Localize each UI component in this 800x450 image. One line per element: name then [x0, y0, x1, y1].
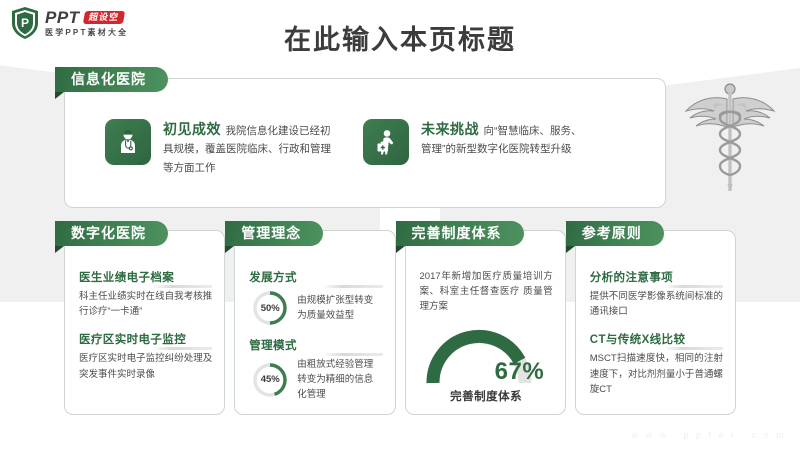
card-4-section-2-heading: CT与传统X线比较 — [590, 331, 723, 347]
card-4-section-2-body: MSCT扫描速度快，相同的注射速度下，对比剂剂量小于普通螺旋CT — [590, 351, 723, 397]
card-2-section-2-body: 由粗放式经验管理转变为精细的信息化管理 — [297, 357, 382, 403]
cards-row: 数字化医院 医生业绩电子档案 科主任业绩实时在线自我考核推行诊疗“一卡通” 医疗… — [64, 230, 736, 415]
card-1-section-1-heading: 医生业绩电子档案 — [79, 269, 212, 285]
card-1-section-2-body: 医疗区实时电子监控纠纷处理及突发事件实时录像 — [79, 351, 212, 381]
card-1-section-2-heading: 医疗区实时电子监控 — [79, 331, 212, 347]
doctor-stethoscope-icon — [105, 119, 151, 165]
card-3-body: 2017年新增加医疗质量培训方案、科室主任督查医疗 质量管理方案 67% 完善制… — [420, 269, 553, 408]
caduceus-icon — [684, 80, 776, 198]
card-3-banner-label: 完善制度体系 — [396, 221, 524, 246]
gauge-67-caption: 完善制度体系 — [420, 388, 553, 404]
top-panel: 信息化医院 初见成效 我院信息化建设已经初具规模，覆盖医院临床、行政和管 — [64, 78, 666, 208]
card-2-banner: 管理理念 — [225, 221, 323, 246]
gauge-chart-67: 67% — [420, 324, 553, 386]
donut-chart-45: 45% — [251, 361, 289, 399]
card-1-section-1-body: 科主任业绩实时在线自我考核推行诊疗“一卡通” — [79, 289, 212, 319]
top-item-2: 未来挑战 向“智慧临床、服务、管理”的新型数字化医院转型升级 — [363, 119, 591, 176]
top-panel-banner: 信息化医院 — [55, 67, 168, 92]
page-title: 在此输入本页标题 — [0, 18, 800, 57]
card-digital-hospital: 数字化医院 医生业绩电子档案 科主任业绩实时在线自我考核推行诊疗“一卡通” 医疗… — [64, 230, 225, 415]
slide-canvas: P PPT 超设空 医学PPT素材大全 在此输入本页标题 信息化医院 — [0, 0, 800, 450]
card-4-banner-label: 参考原则 — [566, 221, 664, 246]
top-item-1: 初见成效 我院信息化建设已经初具规模，覆盖医院临床、行政和管理等方面工作 — [105, 119, 333, 176]
donut-45-label: 45% — [251, 361, 289, 399]
donut-chart-50: 50% — [251, 289, 289, 327]
card-1-banner: 数字化医院 — [55, 221, 168, 246]
card-2-banner-label: 管理理念 — [225, 221, 323, 246]
card-2-section-2-heading: 管理模式 — [249, 337, 382, 353]
gauge-67-value: 67% — [486, 358, 553, 386]
card-3-gauge-wrap: 67% 完善制度体系 — [420, 324, 553, 404]
top-panel-items: 初见成效 我院信息化建设已经初具规模，覆盖医院临床、行政和管理等方面工作 — [105, 119, 655, 176]
top-item-2-heading: 未来挑战 — [421, 121, 479, 137]
card-2-section-1-body: 由规模扩张型转变为质量效益型 — [297, 293, 382, 323]
card-2-donut-row-1: 50% 由规模扩张型转变为质量效益型 — [251, 289, 382, 327]
card-1-body: 医生业绩电子档案 科主任业绩实时在线自我考核推行诊疗“一卡通” 医疗区实时电子监… — [79, 269, 212, 408]
card-4-body: 分析的注意事项 提供不同医学影像系统间标准的通讯接口 CT与传统X线比较 MSC… — [590, 269, 723, 408]
top-panel-banner-label: 信息化医院 — [55, 67, 168, 92]
card-3-body-text: 2017年新增加医疗质量培训方案、科室主任督查医疗 质量管理方案 — [420, 269, 553, 315]
card-management-concept: 管理理念 发展方式 50% 由规模扩张型转变为质量效益型 管理模式 — [234, 230, 395, 415]
card-reference-principles: 参考原则 分析的注意事项 提供不同医学影像系统间标准的通讯接口 CT与传统X线比… — [575, 230, 736, 415]
card-3-banner: 完善制度体系 — [396, 221, 524, 246]
card-2-body: 发展方式 50% 由规模扩张型转变为质量效益型 管理模式 — [249, 269, 382, 408]
donut-50-label: 50% — [251, 289, 289, 327]
card-2-section-1-heading: 发展方式 — [249, 269, 382, 285]
top-item-1-heading: 初见成效 — [163, 121, 221, 137]
card-system-improvement: 完善制度体系 2017年新增加医疗质量培训方案、科室主任督查医疗 质量管理方案 … — [405, 230, 566, 415]
card-4-section-1-body: 提供不同医学影像系统间标准的通讯接口 — [590, 289, 723, 319]
card-4-section-1-heading: 分析的注意事项 — [590, 269, 723, 285]
card-1-banner-label: 数字化医院 — [55, 221, 168, 246]
card-2-donut-row-2: 45% 由粗放式经验管理转变为精细的信息化管理 — [251, 357, 382, 403]
site-watermark: w w w . p p t e r . c o m — [631, 430, 786, 440]
card-4-banner: 参考原则 — [566, 221, 664, 246]
doctor-medical-bag-icon — [363, 119, 409, 165]
